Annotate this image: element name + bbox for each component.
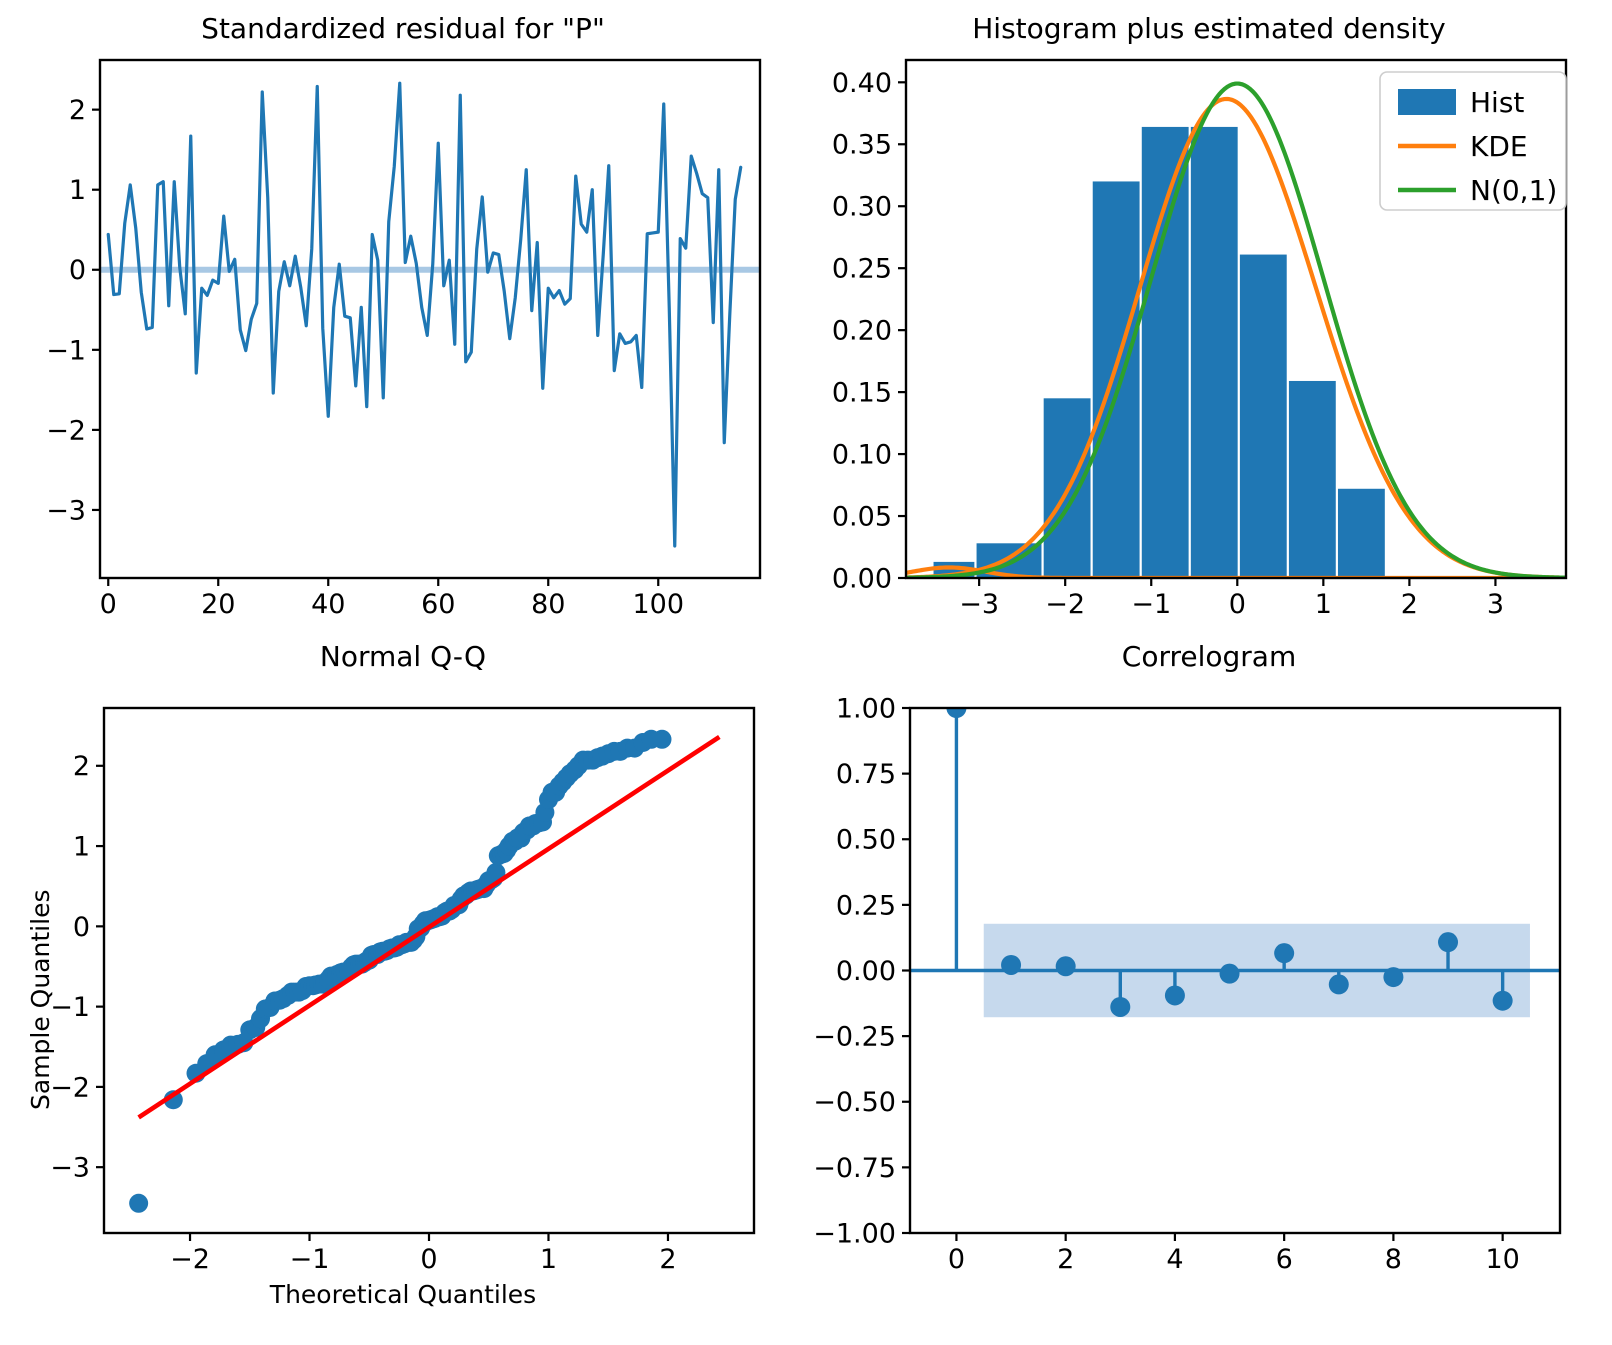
svg-text:0.35: 0.35 [832,130,892,161]
svg-text:0: 0 [948,1244,965,1275]
correlogram-plot-svg: 02468101.000.750.500.250.00−0.25−0.50−0.… [806,630,1612,1345]
svg-text:0.10: 0.10 [832,440,892,471]
histogram-bar [1338,489,1385,578]
svg-text:−1.00: −1.00 [813,1218,896,1249]
svg-text:0: 0 [73,912,90,943]
svg-text:0: 0 [69,255,86,286]
svg-text:2: 2 [69,95,86,126]
acf-marker [1165,985,1185,1005]
histogram-bar [1093,181,1140,578]
svg-text:100: 100 [632,589,684,620]
svg-text:1: 1 [69,175,86,206]
svg-text:−2: −2 [1045,589,1085,620]
svg-text:−1: −1 [1131,589,1171,620]
svg-text:−1: −1 [290,1244,330,1275]
panel-standardized-residual: Standardized residual for "P" 0204060801… [0,0,806,630]
acf-marker [1274,943,1294,963]
svg-text:2: 2 [659,1244,676,1275]
svg-text:−0.75: −0.75 [813,1153,896,1184]
histogram-bar [1289,381,1336,578]
acf-marker [1220,964,1240,984]
svg-text:−1: −1 [50,992,90,1023]
legend-label: N(0,1) [1470,174,1557,207]
qq-point [652,730,671,749]
svg-text:−2: −2 [50,1072,90,1103]
histogram-bar [1240,255,1287,578]
acf-marker [1438,932,1458,952]
svg-text:80: 80 [531,589,565,620]
svg-text:0.25: 0.25 [832,254,892,285]
acf-marker [1001,955,1021,975]
acf-marker [1329,974,1349,994]
legend-label: KDE [1470,130,1528,163]
svg-text:−3: −3 [46,495,86,526]
svg-text:0.50: 0.50 [836,825,896,856]
qq-point [710,630,729,640]
svg-text:6: 6 [1276,1244,1293,1275]
svg-text:0.25: 0.25 [836,890,896,921]
qq-yaxis-label: Sample Quantiles [26,890,55,1110]
residual-panel-title: Standardized residual for "P" [0,12,806,45]
svg-text:−2: −2 [46,415,86,446]
legend-label: Hist [1470,86,1524,119]
svg-text:0: 0 [100,589,117,620]
svg-text:0.40: 0.40 [832,68,892,99]
correlogram-panel-title: Correlogram [806,640,1612,673]
svg-text:−0.50: −0.50 [813,1087,896,1118]
histogram-legend: HistKDEN(0,1) [1380,72,1566,210]
svg-text:1: 1 [73,832,90,863]
svg-text:−3: −3 [959,589,999,620]
legend-swatch-hist [1398,89,1456,115]
acf-marker [1383,967,1403,987]
qq-plot-svg: −2−1012210−1−2−3 [0,630,806,1345]
svg-text:−3: −3 [50,1153,90,1184]
qq-point [129,1194,148,1213]
svg-text:1: 1 [1315,589,1332,620]
svg-text:0.00: 0.00 [832,563,892,594]
svg-text:0: 0 [1229,589,1246,620]
residual-plot-svg: 020406080100210−1−2−3 [0,0,806,630]
svg-text:10: 10 [1485,1244,1519,1275]
panel-correlogram: Correlogram 02468101.000.750.500.250.00−… [806,630,1612,1345]
svg-text:0.05: 0.05 [832,501,892,532]
svg-text:0: 0 [420,1244,437,1275]
svg-text:−1: −1 [46,335,86,366]
svg-text:8: 8 [1385,1244,1402,1275]
svg-text:0.00: 0.00 [836,956,896,987]
svg-text:2: 2 [1401,589,1418,620]
svg-text:1.00: 1.00 [836,693,896,724]
qq-xaxis-label: Theoretical Quantiles [0,1280,806,1309]
svg-text:40: 40 [311,589,345,620]
svg-text:−2: −2 [170,1244,210,1275]
svg-text:2: 2 [1057,1244,1074,1275]
panel-normal-qq: Normal Q-Q −2−1012210−1−2−3 Theoretical … [0,630,806,1345]
histogram-plot-svg: −3−2−101230.000.050.100.150.200.250.300.… [806,0,1612,630]
svg-text:3: 3 [1487,589,1504,620]
histogram-panel-title: Histogram plus estimated density [806,12,1612,45]
histogram-bar [1142,127,1189,578]
acf-marker [1056,956,1076,976]
svg-text:0.75: 0.75 [836,759,896,790]
svg-text:4: 4 [1166,1244,1183,1275]
svg-text:2: 2 [73,751,90,782]
acf-marker [1110,997,1130,1017]
panel-histogram-density: Histogram plus estimated density −3−2−10… [806,0,1612,630]
qq-point [675,630,694,640]
acf-marker [1493,991,1513,1011]
svg-text:60: 60 [421,589,455,620]
qq-reference-line [139,737,720,1118]
svg-text:0.20: 0.20 [832,316,892,347]
svg-text:20: 20 [201,589,235,620]
svg-text:0.15: 0.15 [832,378,892,409]
svg-text:0.30: 0.30 [832,192,892,223]
svg-text:−0.25: −0.25 [813,1022,896,1053]
statsmodels-diagnostics-figure: Standardized residual for "P" 0204060801… [0,0,1612,1345]
qq-panel-title: Normal Q-Q [0,640,806,673]
histogram-bar [1191,127,1238,578]
svg-text:1: 1 [540,1244,557,1275]
residual-series-line [108,83,741,546]
